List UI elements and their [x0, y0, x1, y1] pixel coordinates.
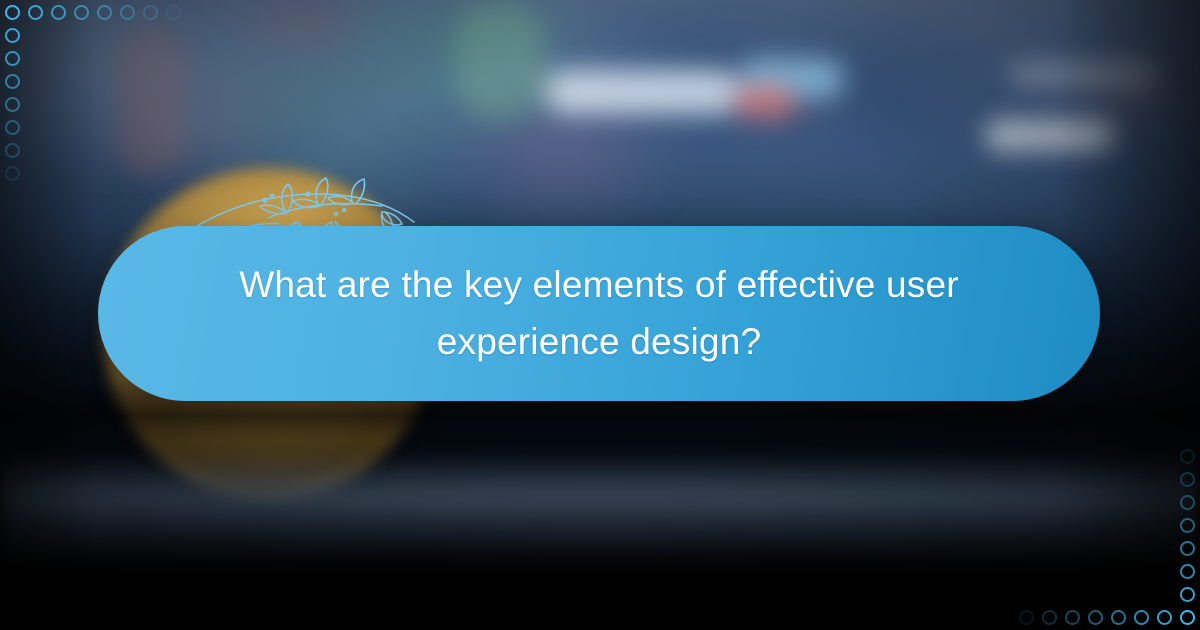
ornament-dot	[1180, 587, 1195, 602]
ornament-dot	[1134, 610, 1149, 625]
ornament-dot	[166, 5, 181, 20]
ornament-dot	[1042, 610, 1057, 625]
ornament-dot	[1180, 472, 1195, 487]
ornament-dot	[28, 5, 43, 20]
ornament-dot	[1180, 610, 1195, 625]
ornament-dot	[1180, 449, 1195, 464]
ornament-dot	[143, 5, 158, 20]
ornament-dot	[1157, 610, 1172, 625]
ornament-dot	[5, 143, 20, 158]
ornament-dot	[5, 166, 20, 181]
ornament-dot	[74, 5, 89, 20]
ornament-dot	[1180, 518, 1195, 533]
ornament-dot	[97, 5, 112, 20]
ornament-dot	[5, 120, 20, 135]
ornament-dot	[1111, 610, 1126, 625]
ornament-dot	[51, 5, 66, 20]
question-text: What are the key elements of effective u…	[219, 257, 979, 369]
ornament-dot	[5, 51, 20, 66]
ornament-dot	[1180, 564, 1195, 579]
ornament-dot	[1180, 541, 1195, 556]
ornament-dot	[1019, 610, 1034, 625]
question-pill[interactable]: What are the key elements of effective u…	[98, 226, 1100, 401]
ornament-dot	[1180, 495, 1195, 510]
ornament-dot	[5, 74, 20, 89]
ornament-dot	[120, 5, 135, 20]
ornament-dot	[1088, 610, 1103, 625]
social-card-canvas: What are the key elements of effective u…	[0, 0, 1200, 630]
ornament-dot	[5, 28, 20, 43]
ornament-dot	[5, 5, 20, 20]
ornament-dot	[1065, 610, 1080, 625]
ornament-dot	[5, 97, 20, 112]
